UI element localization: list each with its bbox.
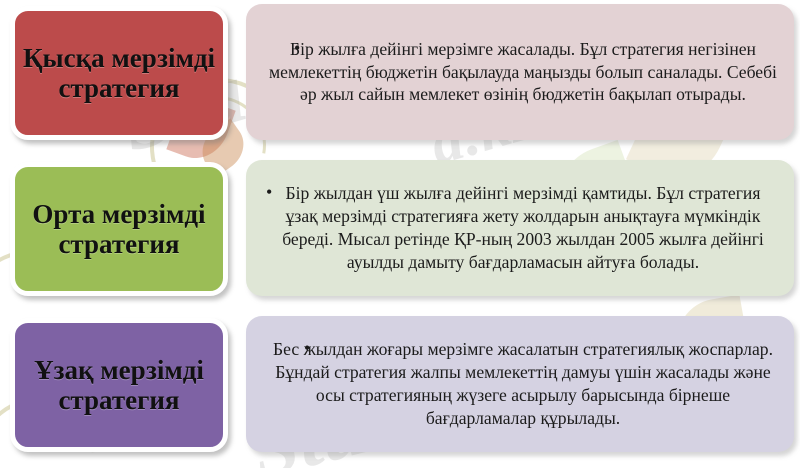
strategy-label-chip[interactable]: Орта мерзімді стратегия: [10, 162, 228, 296]
strategy-description-panel: • Бір жылға дейінгі мерзімге жасалады. Б…: [246, 4, 794, 140]
strategy-label-text: Қысқа мерзімді стратегия: [15, 43, 223, 104]
strategy-description-body: • Бес жылдан жоғары мерзімге жасалатын с…: [246, 336, 794, 431]
strategy-description-panel: • Бір жылдан үш жылға дейінгі мерзімді қ…: [246, 160, 794, 296]
strategy-label-chip[interactable]: Қысқа мерзімді стратегия: [10, 6, 228, 140]
strategy-label-text: Орта мерзімді стратегия: [15, 199, 223, 260]
strategy-description-body: • Бір жылдан үш жылға дейінгі мерзімді қ…: [246, 180, 794, 275]
slide-canvas: Stud.kz d.kz Stud.kz • Бір жылға дейінгі…: [0, 0, 800, 468]
strategy-label-chip[interactable]: Ұзақ мерзімді стратегия: [10, 318, 228, 452]
strategy-row: • Бір жылға дейінгі мерзімге жасалады. Б…: [0, 0, 800, 148]
strategy-description-body: • Бір жылға дейінгі мерзімге жасалады. Б…: [246, 36, 794, 109]
strategy-row: • Бес жылдан жоғары мерзімге жасалатын с…: [0, 312, 800, 464]
bullet-glyph: •: [266, 181, 272, 204]
strategy-description-panel: • Бес жылдан жоғары мерзімге жасалатын с…: [246, 316, 794, 452]
strategy-row: • Бір жылдан үш жылға дейінгі мерзімді қ…: [0, 156, 800, 304]
strategy-description-text: Бір жылға дейінгі мерзімге жасалады. Бұл…: [268, 38, 778, 107]
strategy-label-text: Ұзақ мерзімді стратегия: [15, 355, 223, 416]
strategy-description-text: Бес жылдан жоғары мерзімге жасалатын стр…: [268, 338, 778, 429]
bullet-glyph: •: [304, 337, 310, 360]
bullet-glyph: •: [294, 37, 300, 60]
strategy-description-text: Бір жылдан үш жылға дейінгі мерзімді қам…: [268, 182, 778, 273]
